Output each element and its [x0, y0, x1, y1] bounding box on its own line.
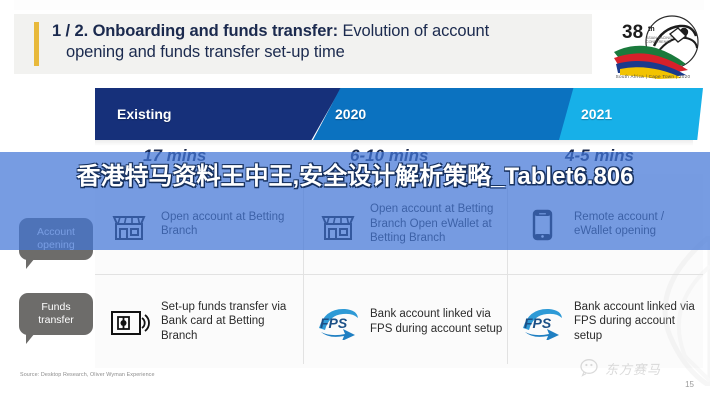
category-pill-label: Fundstransfer [38, 301, 74, 327]
title-rest: Evolution of account [338, 22, 489, 40]
fps-logo-icon: FPS [314, 304, 362, 340]
svg-text:38: 38 [622, 22, 643, 43]
phase-chevron-bar: Existing 2020 2021 [95, 88, 703, 140]
phase-label-2020: 2020 [335, 106, 366, 122]
svg-text:FPS: FPS [524, 315, 552, 331]
phase-segment-2020: 2020 [313, 88, 587, 140]
cell-funds-2021: FPS Bank account linked via FPS during a… [508, 275, 703, 368]
watermark-text: 东方赛马 [605, 359, 661, 378]
category-pill-tail [26, 258, 35, 269]
slide-canvas: 1 / 2. Onboarding and funds transfer: Ev… [0, 0, 710, 400]
category-pill-tail [26, 333, 35, 344]
cell-text: Bank account linked via FPS during accou… [574, 300, 703, 344]
title-accent-bar [34, 22, 39, 66]
page-title: 1 / 2. Onboarding and funds transfer: Ev… [52, 21, 582, 63]
slide-top-edge [0, 0, 710, 10]
page-number: 15 [685, 380, 694, 389]
fps-logo-icon: FPS [518, 304, 566, 340]
phase-label-2021: 2021 [581, 106, 612, 122]
phase-segment-2021: 2021 [559, 88, 703, 140]
watermark: 东方赛马 [580, 358, 661, 378]
source-note: Source: Desktop Research, Oliver Wyman E… [20, 372, 155, 378]
phase-segment-existing: Existing [95, 88, 341, 140]
svg-text:th: th [648, 26, 655, 33]
wechat-icon [580, 358, 602, 378]
logo-caption: South Africa | Cape Town | 2020 [604, 74, 702, 79]
cell-text: Set-up funds transfer via Bank card at B… [161, 300, 303, 344]
phase-label-existing: Existing [117, 106, 171, 122]
title-prefix: 1 / 2. Onboarding and funds transfer: [52, 22, 338, 40]
overlay-banner-text: 香港特马资料王中王,安全设计解析策略_Tablet6.806 [0, 160, 710, 194]
category-pill-funds-transfer: Fundstransfer [19, 293, 93, 335]
svg-text:CONFERENCE: CONFERENCE [646, 40, 672, 44]
cell-funds-existing: Set-up funds transfer via Bank card at B… [95, 275, 303, 368]
cell-text: Bank account linked via FPS during accou… [370, 307, 507, 336]
title-line-2: opening and funds transfer set-up time [66, 42, 582, 63]
svg-text:FPS: FPS [320, 315, 348, 331]
contactless-card-icon [105, 302, 153, 342]
cell-funds-2020: FPS Bank account linked via FPS during a… [304, 275, 507, 368]
